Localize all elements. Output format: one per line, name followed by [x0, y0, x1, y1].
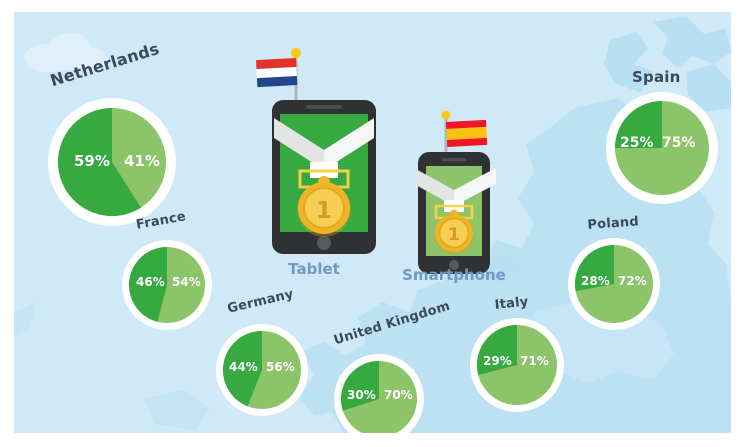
pie-value-germany-tablet: 44% [229, 360, 258, 374]
pie-value-france-tablet: 46% [136, 275, 165, 289]
flag-finial-icon [291, 48, 301, 58]
tablet-home-button [317, 236, 331, 250]
pie-spain[interactable]: Spain 25% 75% [600, 64, 731, 194]
pie-value-spain-smartphone: 75% [662, 135, 696, 151]
pie-label-netherlands: Netherlands [48, 39, 161, 90]
pie-value-italy-tablet: 29% [483, 354, 512, 368]
pie-label-italy: Italy [494, 294, 529, 312]
smartphone-device[interactable]: 1 Smartphone [404, 102, 514, 282]
pie-value-germany-smartphone: 56% [266, 360, 295, 374]
infographic-root: Netherlands 59% 41% France 46% 54% Germa… [0, 0, 745, 447]
pie-poland[interactable]: Poland 28% 72% [562, 216, 682, 328]
pie-value-poland-tablet: 28% [581, 274, 610, 288]
tablet-caption: Tablet [268, 260, 360, 278]
tablet-speaker [306, 105, 342, 109]
infographic-canvas: Netherlands 59% 41% France 46% 54% Germa… [14, 12, 731, 433]
netherlands-flag-icon [256, 58, 297, 87]
pie-label-spain: Spain [632, 68, 680, 86]
pie-value-netherlands-smartphone: 41% [124, 152, 160, 170]
smartphone-speaker [442, 158, 466, 162]
pie-value-poland-smartphone: 72% [618, 274, 647, 288]
pie-value-united-kingdom-smartphone: 70% [384, 388, 413, 402]
pie-netherlands[interactable]: Netherlands 59% 41% [36, 70, 196, 210]
pie-value-netherlands-tablet: 59% [74, 152, 110, 170]
flag-finial-icon [442, 111, 451, 120]
smartphone-illustration: 1 [404, 102, 514, 282]
pie-united-kingdom[interactable]: United Kingdom 30% 70% [322, 324, 452, 433]
medal-number-smartphone: 1 [448, 225, 460, 245]
tablet-device[interactable]: 1 Tablet [244, 42, 384, 277]
spain-flag-icon [446, 120, 487, 147]
pie-germany[interactable]: Germany 44% 56% [212, 300, 332, 412]
pie-value-france-smartphone: 54% [172, 275, 201, 289]
pie-value-spain-tablet: 25% [620, 135, 654, 151]
smartphone-caption: Smartphone [398, 266, 510, 284]
pie-value-italy-smartphone: 71% [520, 354, 549, 368]
medal-number-tablet: 1 [316, 198, 332, 224]
pie-label-united-kingdom: United Kingdom [332, 299, 452, 349]
pie-value-united-kingdom-tablet: 30% [347, 388, 376, 402]
tablet-illustration: 1 [244, 42, 384, 277]
pie-label-poland: Poland [587, 214, 639, 233]
